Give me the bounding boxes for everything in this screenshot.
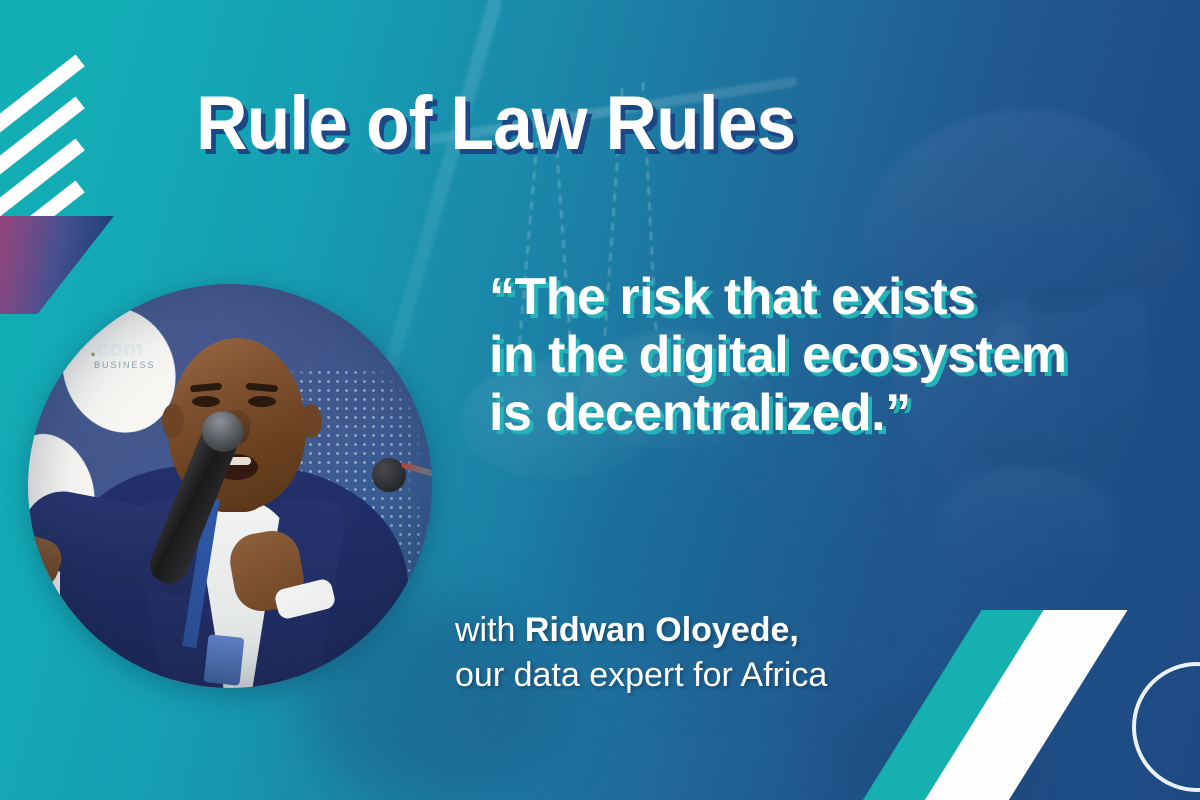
attribution-line-1: with Ridwan Oloyede,: [455, 608, 827, 653]
quote-text: “The risk that exists in the digital eco…: [489, 268, 1189, 443]
quote-line: in the digital ecosystem: [489, 326, 1189, 384]
quote-line: is decentralized.”: [489, 384, 1189, 442]
attribution-prefix: with: [455, 611, 525, 649]
circle-outline-decoration: [1132, 662, 1200, 792]
attribution: with Ridwan Oloyede, our data expert for…: [455, 608, 827, 698]
quote-line: “The risk that exists: [489, 268, 1189, 326]
statue-chin: [938, 470, 1118, 600]
attribution-line-2: our data expert for Africa: [455, 653, 827, 698]
portrait-vignette: [28, 284, 432, 688]
page-title: Rule of Law Rules: [196, 86, 795, 162]
speaker-portrait: .com BUSINESS: [28, 284, 432, 688]
podcast-promo-slide: .com BUSINESS Rule of Law Rules “The ris…: [0, 0, 1200, 800]
speaker-name: Ridwan Oloyede,: [525, 611, 799, 649]
bottom-right-decoration: [900, 620, 1200, 800]
